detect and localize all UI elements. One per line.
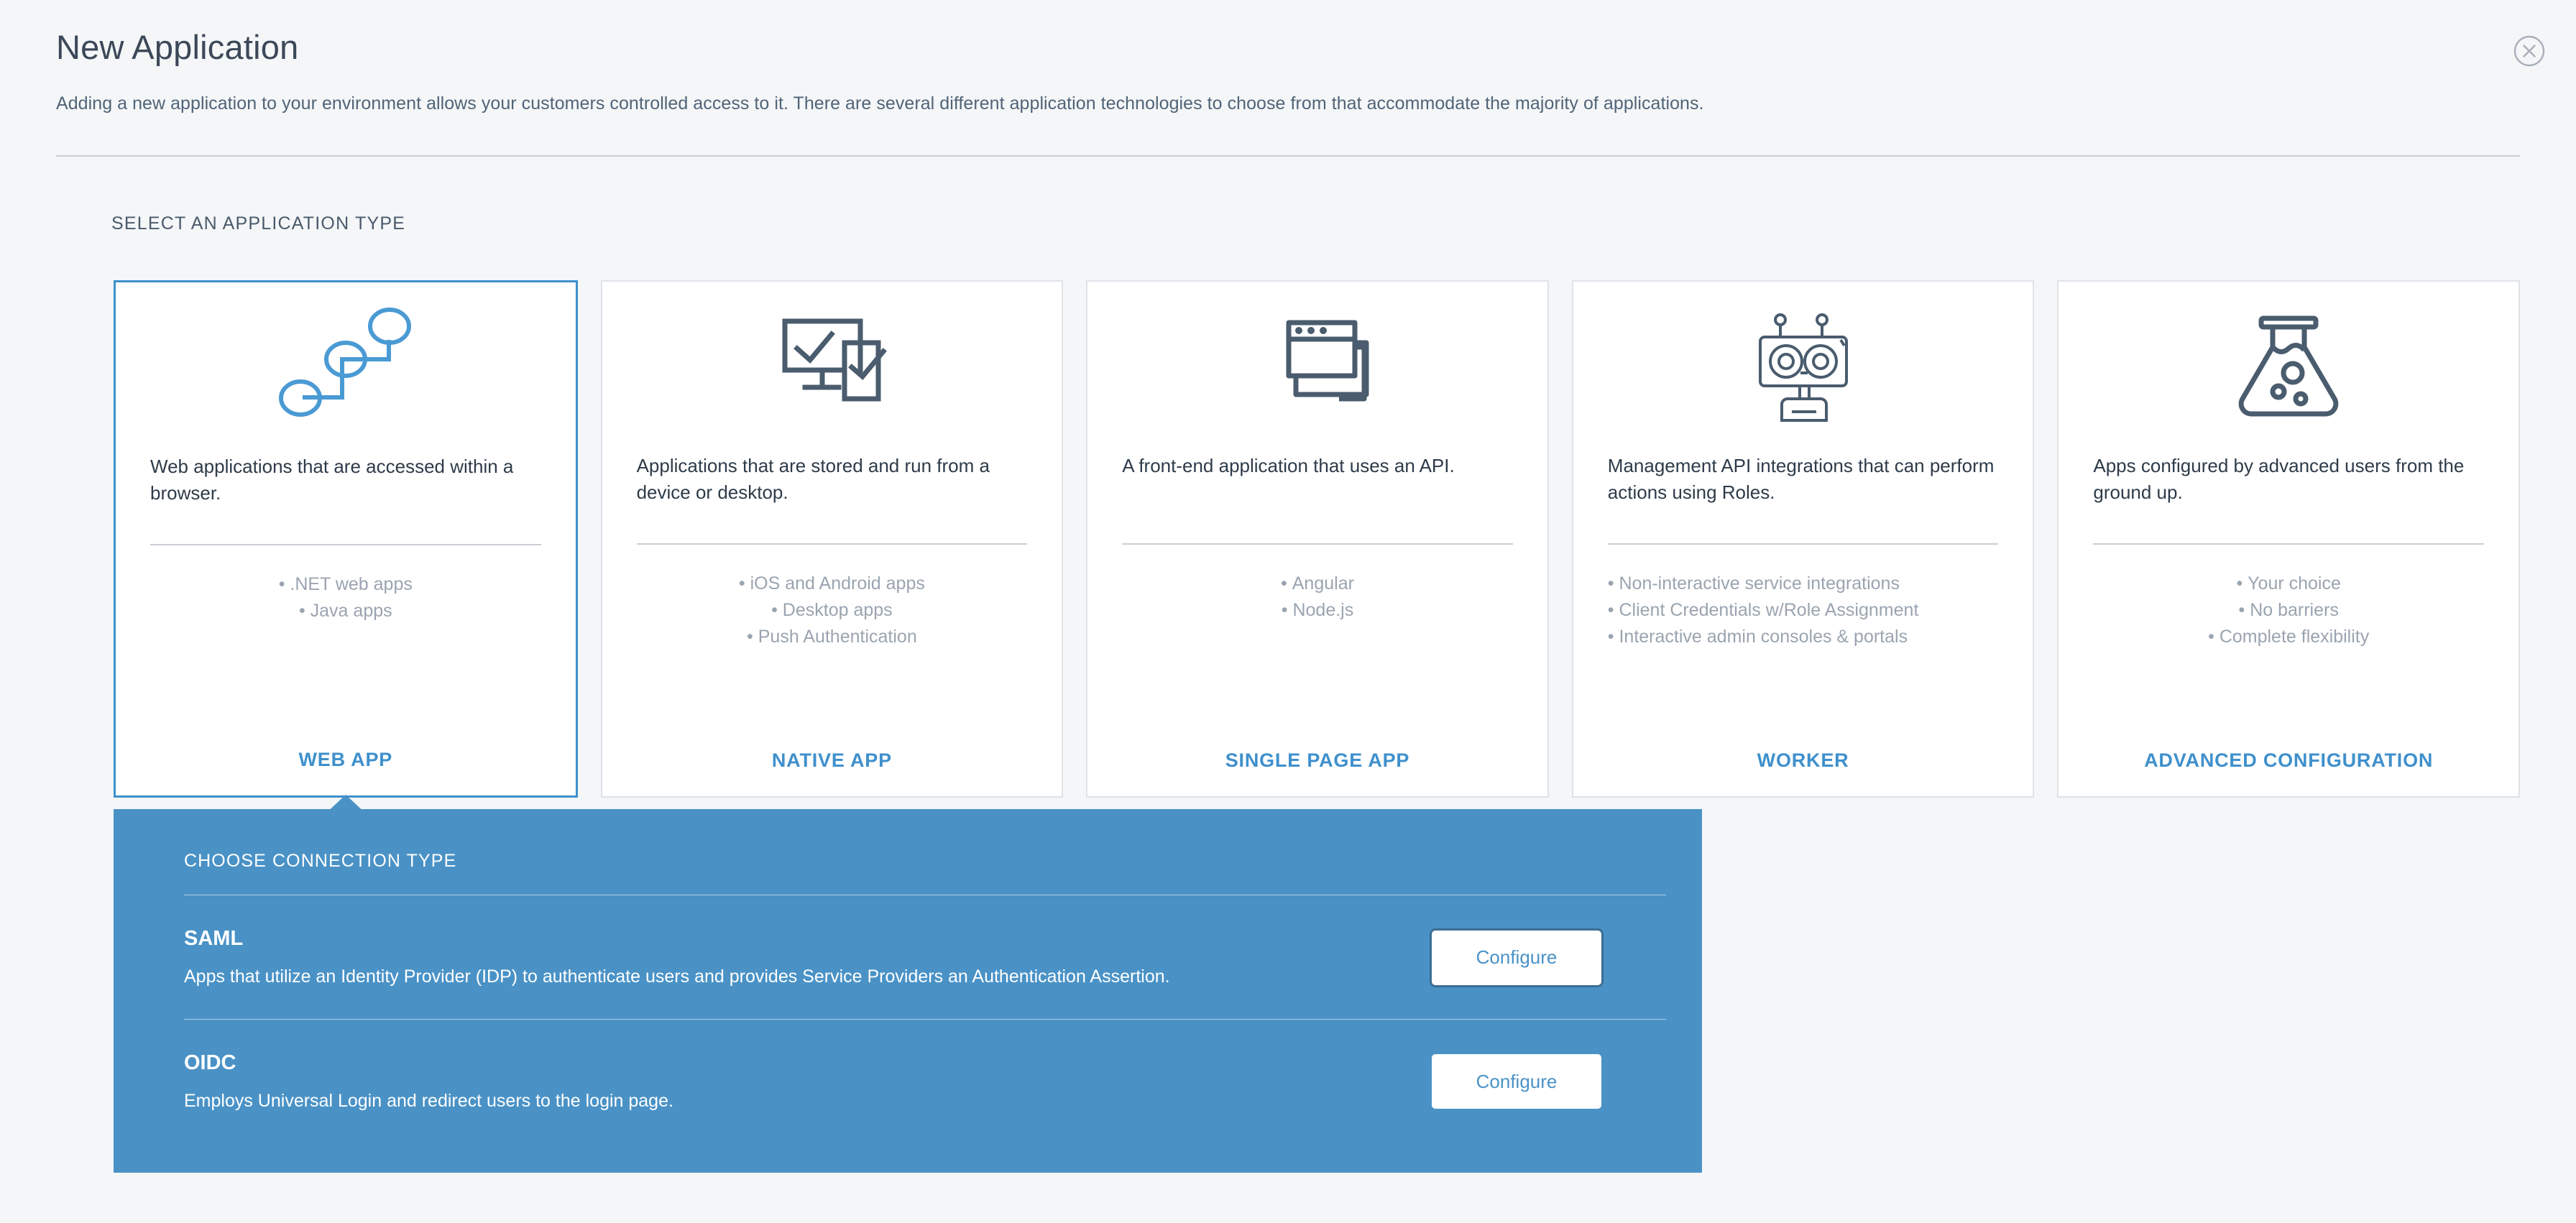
header-divider [56, 155, 2520, 157]
card-divider [637, 543, 1028, 545]
configure-button-oidc[interactable]: Configure [1432, 1054, 1601, 1109]
app-type-card-worker[interactable]: Management API integrations that can per… [1572, 280, 2035, 798]
list-item: Interactive admin consoles & portals [1608, 624, 1999, 650]
robot-icon [1608, 282, 1999, 447]
page-subtitle: Adding a new application to your environ… [56, 93, 1704, 114]
connection-name: OIDC [184, 1051, 1432, 1075]
page-title: New Application [56, 27, 298, 67]
connection-panel-title: CHOOSE CONNECTION TYPE [148, 835, 1667, 872]
list-item: Non-interactive service integrations [1608, 571, 1999, 597]
card-description: Applications that are stored and run fro… [637, 447, 1028, 539]
card-cta-label[interactable]: SINGLE PAGE APP [1122, 749, 1513, 796]
card-divider [150, 544, 541, 545]
card-description: Management API integrations that can per… [1608, 447, 1999, 539]
list-item: Complete flexibility [2093, 624, 2484, 650]
app-type-card-native-app[interactable]: Applications that are stored and run fro… [601, 280, 1064, 798]
list-item: Your choice [2093, 571, 2484, 597]
new-application-page: New Application Adding a new application… [0, 0, 2576, 1223]
close-icon[interactable] [2513, 34, 2546, 68]
list-item: Java apps [150, 598, 541, 624]
desktop-and-mobile-check-icon [637, 282, 1028, 447]
connection-description: Employs Universal Login and redirect use… [184, 1089, 1432, 1113]
card-cta-label[interactable]: WORKER [1608, 749, 1999, 796]
connection-name: SAML [184, 927, 1432, 951]
app-type-card-single-page-app[interactable]: A front-end application that uses an API… [1086, 280, 1549, 798]
flask-icon [2093, 282, 2484, 447]
application-type-card-row: Web applications that are accessed withi… [114, 280, 2520, 798]
nodes-graph-icon [150, 282, 541, 448]
card-divider [1608, 543, 1999, 545]
choose-connection-type-panel: CHOOSE CONNECTION TYPE SAML Apps that ut… [114, 809, 1702, 1173]
configure-button-saml[interactable]: Configure [1432, 931, 1601, 985]
list-item: Client Credentials w/Role Assignment [1608, 597, 1999, 624]
card-cta-label[interactable]: ADVANCED CONFIGURATION [2093, 749, 2484, 796]
card-divider [2093, 543, 2484, 545]
card-description: Web applications that are accessed withi… [150, 448, 541, 540]
browser-windows-icon [1122, 282, 1513, 447]
list-item: Node.js [1122, 597, 1513, 624]
card-bullet-list: Non-interactive service integrations Cli… [1608, 571, 1999, 749]
list-item: No barriers [2093, 597, 2484, 624]
connection-row-oidc: OIDC Employs Universal Login and redirec… [148, 1020, 1667, 1143]
section-label: SELECT AN APPLICATION TYPE [111, 213, 405, 234]
app-type-card-advanced-configuration[interactable]: Apps configured by advanced users from t… [2057, 280, 2520, 798]
connection-row-saml: SAML Apps that utilize an Identity Provi… [148, 895, 1667, 1019]
card-bullet-list: Angular Node.js [1122, 571, 1513, 749]
card-description: A front-end application that uses an API… [1122, 447, 1513, 539]
connection-info: SAML Apps that utilize an Identity Provi… [184, 927, 1432, 989]
list-item: Desktop apps [637, 597, 1028, 624]
app-type-card-web-app[interactable]: Web applications that are accessed withi… [114, 280, 578, 798]
card-description: Apps configured by advanced users from t… [2093, 447, 2484, 539]
list-item: Angular [1122, 571, 1513, 597]
connection-description: Apps that utilize an Identity Provider (… [184, 965, 1432, 989]
list-item: .NET web apps [150, 571, 541, 598]
card-cta-label[interactable]: NATIVE APP [637, 749, 1028, 796]
list-item: iOS and Android apps [637, 571, 1028, 597]
card-bullet-list: .NET web apps Java apps [150, 571, 541, 749]
list-item: Push Authentication [637, 624, 1028, 650]
connection-info: OIDC Employs Universal Login and redirec… [184, 1051, 1432, 1113]
card-bullet-list: Your choice No barriers Complete flexibi… [2093, 571, 2484, 749]
card-divider [1122, 543, 1513, 545]
card-cta-label[interactable]: WEB APP [150, 749, 541, 795]
card-bullet-list: iOS and Android apps Desktop apps Push A… [637, 571, 1028, 749]
